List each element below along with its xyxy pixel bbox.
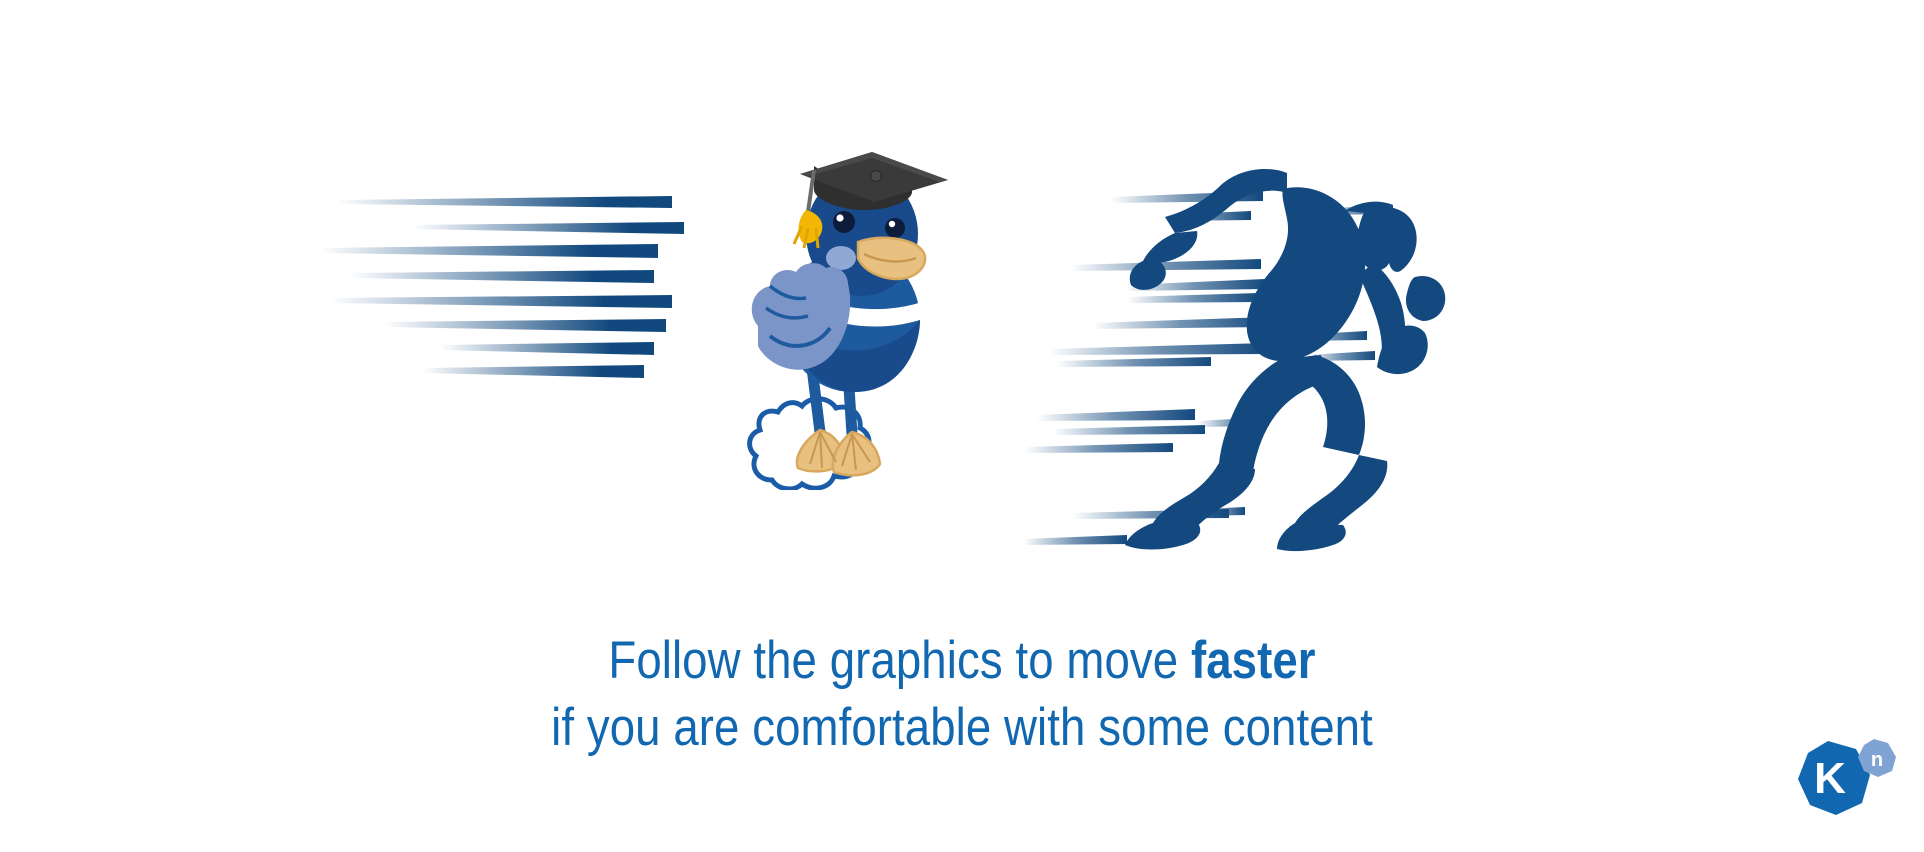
caption-block: Follow the graphics to move faster if yo… bbox=[0, 628, 1924, 762]
caption-line-2: if you are comfortable with some content bbox=[135, 695, 1790, 762]
graduate-bird-mascot bbox=[740, 150, 1000, 490]
logo-letter-n: n bbox=[1871, 749, 1883, 771]
speed-line-group bbox=[320, 196, 684, 378]
caption-line-1: Follow the graphics to move faster bbox=[135, 628, 1790, 695]
logo-k-mark: K bbox=[1798, 741, 1870, 815]
logo-letter-k: K bbox=[1814, 754, 1846, 803]
sprinting-runner-silhouette bbox=[1015, 165, 1475, 555]
slide-canvas: Follow the graphics to move faster if yo… bbox=[0, 0, 1924, 852]
caption-line-1-emphasis: faster bbox=[1191, 631, 1316, 690]
kn-brand-logo: K n bbox=[1790, 735, 1900, 835]
illustration-area bbox=[0, 0, 1924, 560]
caption-line-1-prefix: Follow the graphics to move bbox=[608, 631, 1191, 690]
